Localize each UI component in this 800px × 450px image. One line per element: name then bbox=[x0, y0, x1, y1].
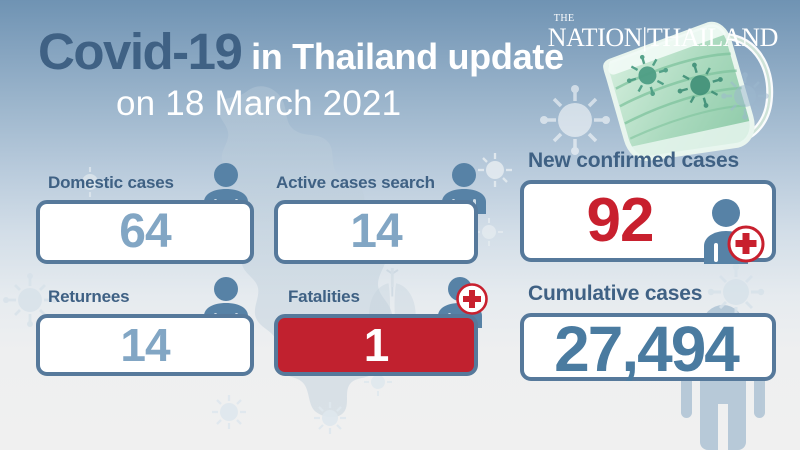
virus-particle bbox=[478, 153, 512, 187]
cumulative-value-wrapper: 27,494 bbox=[524, 317, 772, 377]
stat-value-active-cases-search: 14 bbox=[350, 208, 401, 256]
stat-label-active-cases-search: Active cases search bbox=[276, 174, 435, 191]
stat-value-new-confirmed-cases: 92 bbox=[587, 190, 654, 252]
stat-box-active-cases-search: 14 bbox=[274, 200, 478, 264]
virus-particle bbox=[475, 218, 503, 246]
infographic-canvas: Covid-19 in Thailand update on 18 March … bbox=[0, 0, 800, 450]
logo-main-text: NATION|THAILAND bbox=[548, 25, 778, 51]
stat-value-domestic-cases: 64 bbox=[119, 208, 170, 256]
title-covid: Covid-19 bbox=[38, 23, 241, 80]
virus-particle bbox=[721, 72, 769, 120]
stat-value-returnees: 14 bbox=[120, 322, 169, 368]
stat-label-cumulative-cases: Cumulative cases bbox=[528, 283, 702, 304]
title-rest: in Thailand update bbox=[241, 36, 563, 77]
virus-particle bbox=[671, 56, 729, 114]
page-title: Covid-19 in Thailand update on 18 March … bbox=[38, 26, 564, 121]
stat-box-domestic-cases: 64 bbox=[36, 200, 254, 264]
virus-particle bbox=[708, 264, 764, 320]
stat-box-new-confirmed-cases: 92 bbox=[520, 180, 776, 262]
title-subtitle: on 18 March 2021 bbox=[116, 86, 564, 121]
virus-particle bbox=[621, 49, 674, 102]
stat-label-domestic-cases: Domestic cases bbox=[48, 174, 174, 191]
title-line-1: Covid-19 in Thailand update bbox=[38, 26, 564, 77]
stat-box-cumulative-cases: 27,494 bbox=[520, 313, 776, 381]
stat-box-returnees: 14 bbox=[36, 314, 254, 376]
stat-label-fatalities: Fatalities bbox=[288, 288, 360, 305]
virus-particle bbox=[314, 402, 346, 434]
stat-label-new-confirmed-cases: New confirmed cases bbox=[528, 150, 739, 171]
virus-particle bbox=[212, 395, 246, 429]
nation-thailand-logo: THE NATION|THAILAND bbox=[548, 14, 778, 51]
stat-value-cumulative-cases: 27,494 bbox=[554, 317, 738, 381]
stat-value-fatalities: 1 bbox=[364, 322, 389, 368]
red-cross-badge-icon bbox=[455, 282, 489, 316]
stat-box-fatalities: 1 bbox=[274, 314, 478, 376]
stat-label-returnees: Returnees bbox=[48, 288, 129, 305]
